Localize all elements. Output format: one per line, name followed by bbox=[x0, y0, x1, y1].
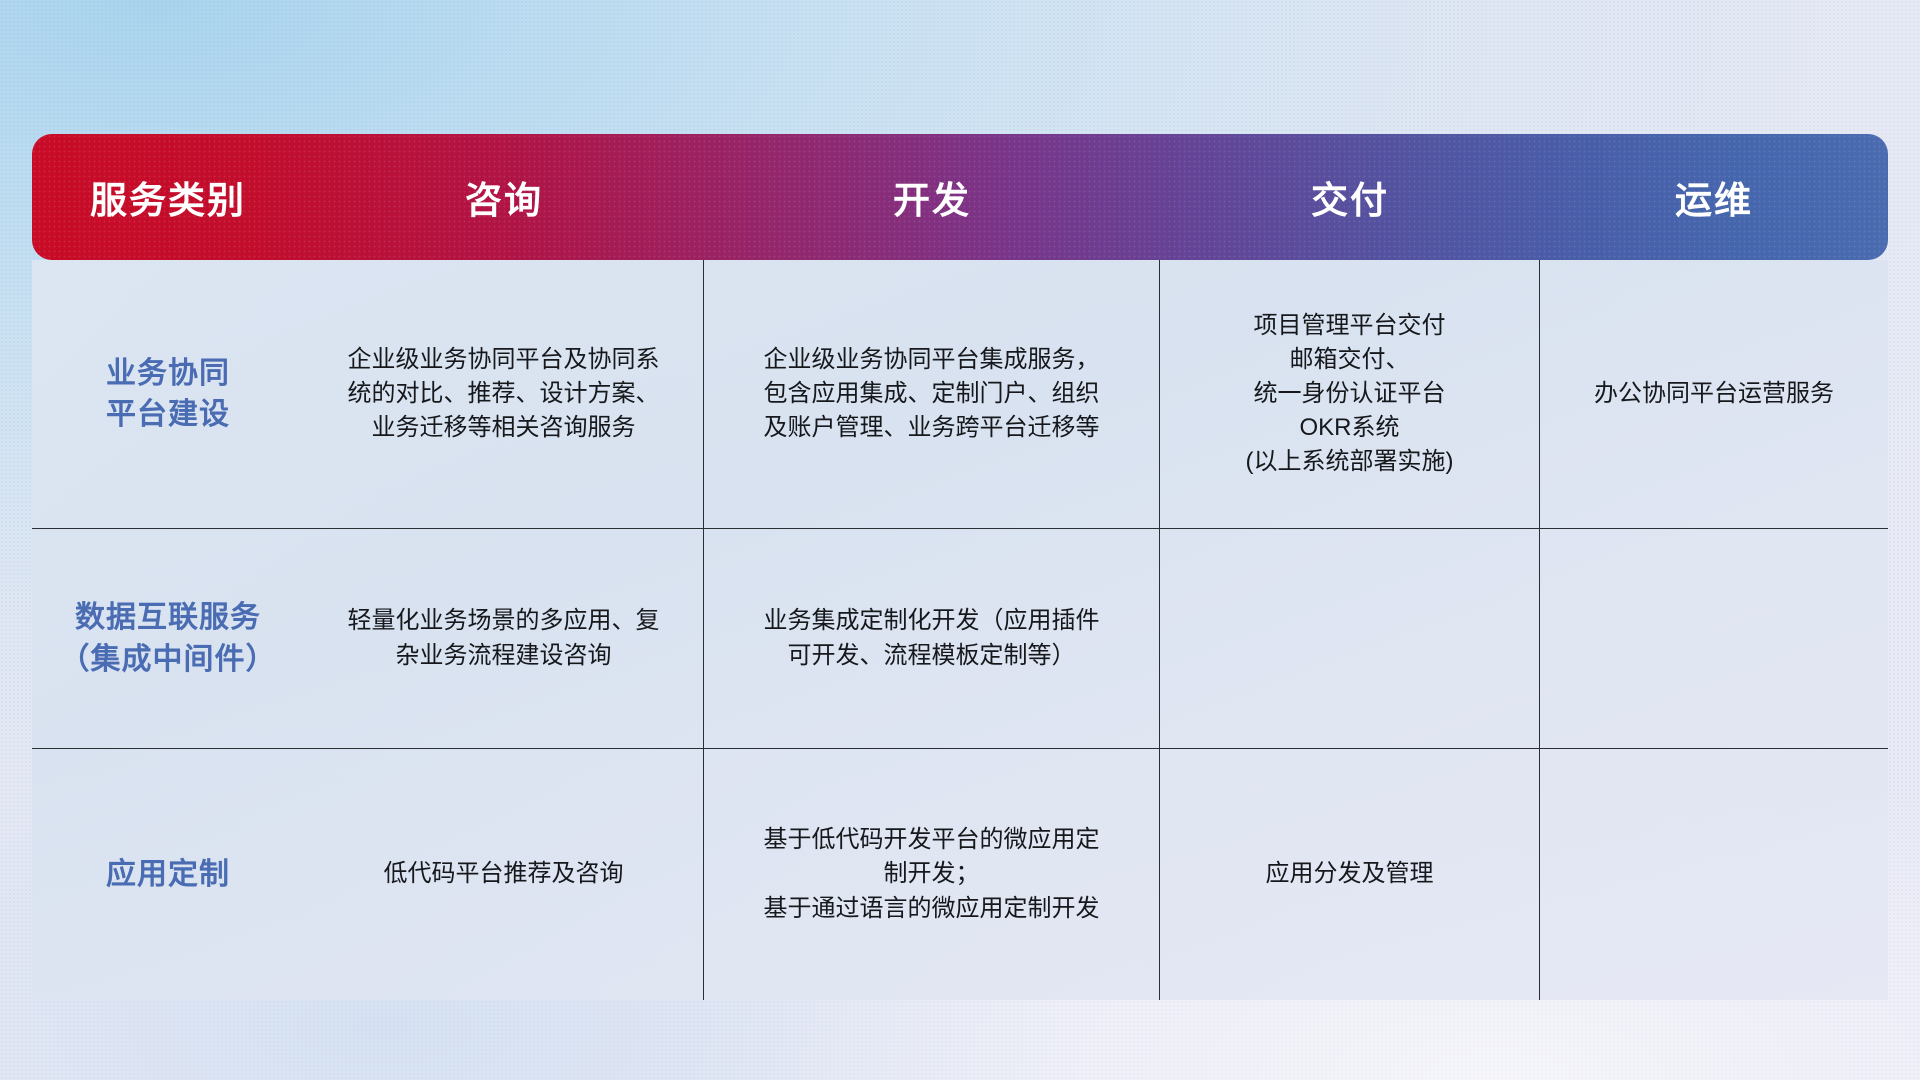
cell-delivery: 应用分发及管理 bbox=[1160, 748, 1540, 1000]
table-row: 应用定制 低代码平台推荐及咨询 基于低代码开发平台的微应用定 制开发； 基于通过… bbox=[32, 748, 1888, 1000]
cell-development: 基于低代码开发平台的微应用定 制开发； 基于通过语言的微应用定制开发 bbox=[704, 748, 1160, 1000]
table-row: 数据互联服务 （集成中间件） 轻量化业务场景的多应用、复 杂业务流程建设咨询 业… bbox=[32, 528, 1888, 748]
table-header-row: 服务类别 咨询 开发 交付 运维 bbox=[32, 134, 1888, 260]
row-category-label: 应用定制 bbox=[32, 748, 304, 1000]
column-header-operations: 运维 bbox=[1540, 134, 1888, 260]
cell-delivery: 项目管理平台交付 邮箱交付、 统一身份认证平台 OKR系统 (以上系统部署实施) bbox=[1160, 260, 1540, 528]
column-header-consulting: 咨询 bbox=[304, 134, 704, 260]
cell-consulting: 轻量化业务场景的多应用、复 杂业务流程建设咨询 bbox=[304, 528, 704, 748]
cell-operations: 办公协同平台运营服务 bbox=[1540, 260, 1888, 528]
row-category-label: 业务协同 平台建设 bbox=[32, 260, 304, 528]
cell-consulting: 低代码平台推荐及咨询 bbox=[304, 748, 704, 1000]
cell-development: 业务集成定制化开发（应用插件 可开发、流程模板定制等） bbox=[704, 528, 1160, 748]
table-row: 业务协同 平台建设 企业级业务协同平台及协同系 统的对比、推荐、设计方案、 业务… bbox=[32, 260, 1888, 528]
service-matrix-table: 服务类别 咨询 开发 交付 运维 业务协同 平台建设 企业级业务协同平台及协同系… bbox=[32, 134, 1888, 952]
cell-consulting: 企业级业务协同平台及协同系 统的对比、推荐、设计方案、 业务迁移等相关咨询服务 bbox=[304, 260, 704, 528]
column-header-category: 服务类别 bbox=[32, 134, 304, 260]
column-header-development: 开发 bbox=[704, 134, 1160, 260]
cell-operations bbox=[1540, 748, 1888, 1000]
cell-development: 企业级业务协同平台集成服务， 包含应用集成、定制门户、组织 及账户管理、业务跨平… bbox=[704, 260, 1160, 528]
table-body: 业务协同 平台建设 企业级业务协同平台及协同系 统的对比、推荐、设计方案、 业务… bbox=[32, 260, 1888, 1000]
cell-delivery bbox=[1160, 528, 1540, 748]
cell-operations bbox=[1540, 528, 1888, 748]
row-category-label: 数据互联服务 （集成中间件） bbox=[32, 528, 304, 748]
column-header-delivery: 交付 bbox=[1160, 134, 1540, 260]
